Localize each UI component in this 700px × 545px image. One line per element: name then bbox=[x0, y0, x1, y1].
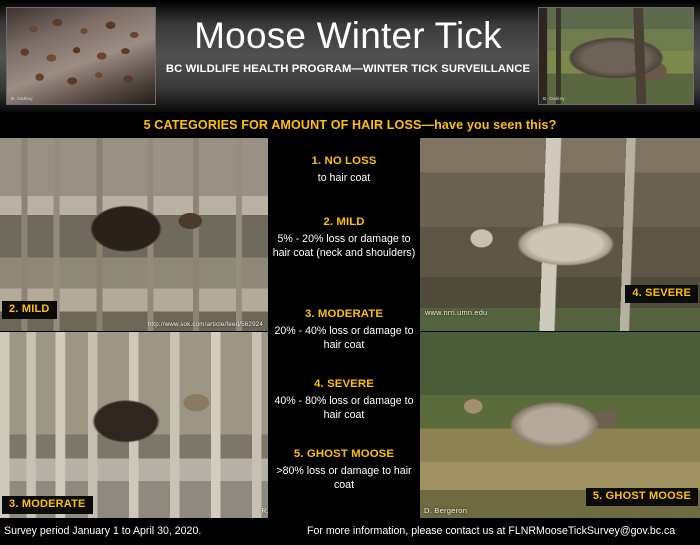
category-item-mild: 2. MILD 5% - 20% loss or damage to hair … bbox=[268, 216, 420, 261]
footer-bar: Survey period January 1 to April 30, 202… bbox=[0, 518, 700, 545]
header-left-photo-credit: B. Oakley bbox=[11, 96, 33, 101]
photo-label-ghost-moose: 5. GHOST MOOSE bbox=[586, 488, 698, 506]
moderate-moose-art bbox=[0, 332, 293, 518]
category-legend-column: 1. NO LOSS to hair coat 2. MILD 5% - 20%… bbox=[268, 138, 420, 518]
photo-label-moderate: 3. MODERATE bbox=[2, 496, 93, 514]
page-title: Moose Winter Tick bbox=[160, 16, 536, 56]
photo-watermark-ghost-moose: D. Bergeron bbox=[424, 506, 467, 515]
category-item-ghost-moose: 5. GHOST MOOSE >80% loss or damage to ha… bbox=[268, 448, 420, 493]
page-subtitle: BC WILDLIFE HEALTH PROGRAM—WINTER TICK S… bbox=[160, 63, 536, 75]
photo-tile-ghost-moose: 5. GHOST MOOSE D. Bergeron bbox=[420, 332, 700, 518]
header-banner: B. Oakley Moose Winter Tick BC WILDLIFE … bbox=[0, 0, 700, 112]
category-title: 3. MODERATE bbox=[268, 308, 420, 320]
photo-label-mild: 2. MILD bbox=[2, 301, 57, 319]
photo-watermark-severe: www.nrri.umn.edu bbox=[425, 308, 487, 317]
photo-tile-mild: 2. MILD http://www.sok.com/article/feed/… bbox=[0, 138, 268, 331]
photo-tile-severe: 4. SEVERE www.nrri.umn.edu bbox=[420, 138, 700, 331]
category-item-severe: 4. SEVERE 40% - 80% loss or damage to ha… bbox=[268, 378, 420, 423]
dead-moose-forest-photo: B. Oakley bbox=[538, 7, 694, 105]
category-item-moderate: 3. MODERATE 20% - 40% loss or damage to … bbox=[268, 308, 420, 353]
category-description: to hair coat bbox=[268, 172, 420, 186]
tick-closeup-art bbox=[7, 8, 155, 104]
category-title: 2. MILD bbox=[268, 216, 420, 228]
category-description: 20% - 40% loss or damage to hair coat bbox=[268, 325, 420, 353]
category-item-no-loss: 1. NO LOSS to hair coat bbox=[268, 155, 420, 186]
category-description: 5% - 20% loss or damage to hair coat (ne… bbox=[268, 233, 420, 261]
category-description: 40% - 80% loss or damage to hair coat bbox=[268, 395, 420, 423]
category-description: >80% loss or damage to hair coat bbox=[268, 465, 420, 493]
category-title: 4. SEVERE bbox=[268, 378, 420, 390]
category-title: 5. GHOST MOOSE bbox=[268, 448, 420, 460]
photo-watermark-mild: http://www.sok.com/article/feed/562924 bbox=[148, 321, 263, 328]
header-right-photo-credit: B. Oakley bbox=[543, 96, 565, 101]
survey-period-text: Survey period January 1 to April 30, 202… bbox=[4, 525, 201, 537]
dead-moose-art bbox=[539, 8, 693, 104]
title-block: Moose Winter Tick BC WILDLIFE HEALTH PRO… bbox=[160, 16, 536, 75]
photo-tile-moderate: 3. MODERATE R. Rea bbox=[0, 332, 293, 518]
categories-banner-text: 5 CATEGORIES FOR AMOUNT OF HAIR LOSS—hav… bbox=[144, 118, 557, 132]
contact-info-text: For more information, please contact us … bbox=[307, 525, 675, 537]
categories-banner: 5 CATEGORIES FOR AMOUNT OF HAIR LOSS—hav… bbox=[0, 112, 700, 138]
winter-tick-closeup-photo: B. Oakley bbox=[6, 7, 156, 105]
category-title: 1. NO LOSS bbox=[268, 155, 420, 167]
moose-winter-tick-infographic: B. Oakley Moose Winter Tick BC WILDLIFE … bbox=[0, 0, 700, 545]
photo-label-severe: 4. SEVERE bbox=[625, 285, 698, 303]
